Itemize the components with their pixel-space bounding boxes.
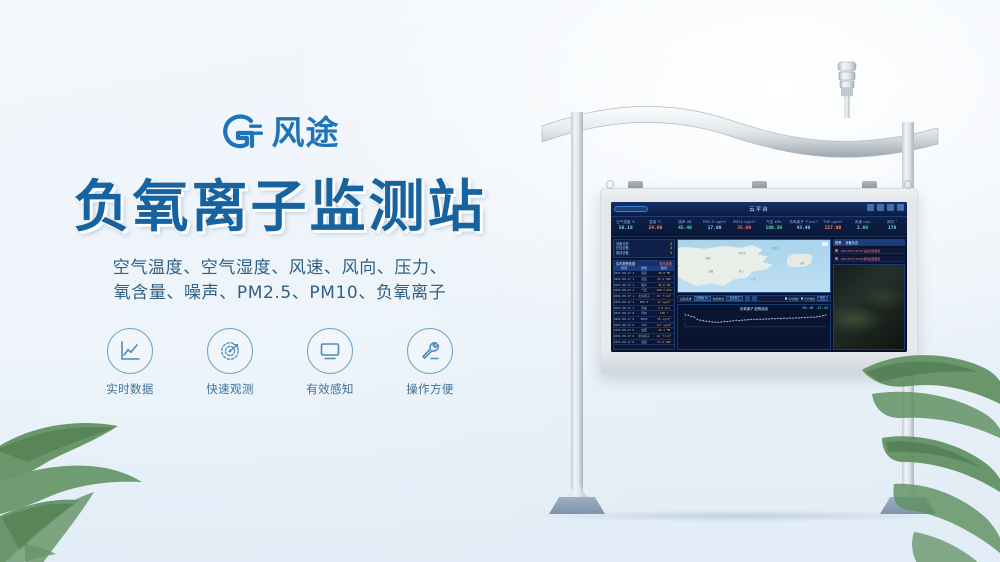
datatype-select[interactable]: 负氧离子: [726, 296, 743, 301]
table-cell: 45.6 dB: [654, 283, 674, 288]
svg-text:06:30: 06:30: [722, 326, 725, 329]
table-cell: 气压: [634, 288, 654, 293]
export-button[interactable]: 导出: [817, 296, 828, 301]
map-zoom-icon[interactable]: [822, 242, 828, 246]
alert-dot-icon: [835, 249, 838, 252]
table-cell: 35 ug/m³: [654, 317, 674, 322]
table-cell: 2021-08-17 10:15: [614, 288, 634, 293]
filter-label-device: 设备选择: [680, 297, 692, 301]
fullscreen-icon[interactable]: [897, 204, 904, 211]
table-cell: 风向: [634, 311, 654, 316]
alert-row[interactable]: 2021-08-17 09:12 设备离线报警: [833, 248, 905, 254]
base-cone-left: [566, 481, 588, 499]
kpi-card: 风速 m/s2.60: [848, 217, 878, 236]
table-cell: 2021-08-17 10:20: [614, 283, 634, 288]
support-pole-left: [571, 112, 583, 502]
table-cell: 100.3 kPa: [654, 288, 674, 293]
kpi-value: 24.60: [641, 225, 671, 233]
svg-text:18:00: 18:00: [791, 326, 794, 329]
left-panel: 设备总数3在线设备3离线设备0 实时报警数据 更多数据 时间类型数值 2021-…: [613, 239, 675, 350]
alert-panel-header: 报警 设备状态: [833, 239, 905, 246]
svg-text:02:00: 02:00: [695, 326, 698, 329]
kpi-card: 气压 kPa100.30: [759, 217, 789, 236]
svg-text:17:30: 17:30: [788, 326, 791, 329]
table-cell: 2021-08-17 09:35: [614, 334, 634, 339]
cabinet-mount-3: [862, 181, 877, 188]
wind-g-logo-icon: [221, 112, 263, 152]
map-label: 日本: [800, 261, 805, 265]
device-select[interactable]: 监测站 01: [694, 296, 711, 301]
kpi-row: 空气湿度 %56.18温度 ℃24.60噪声 dB45.40PM2.5 ug/m…: [611, 217, 907, 237]
feature-item-realtime-data[interactable]: 实时数据: [98, 328, 162, 397]
table-cell: 2021-08-17 10:25: [614, 277, 634, 282]
table-cell: 湿度: [634, 340, 654, 345]
svg-text:04:00: 04:00: [707, 326, 710, 329]
table-cell: 2021-08-17 09:30: [614, 340, 634, 345]
sensor-list-subtitle: 空气温度、空气湿度、风速、风向、压力、 氧含量、噪声、PM2.5、PM10、负氧…: [0, 256, 560, 306]
filter-label-datatype: 数据类型: [713, 297, 725, 301]
alarm-data-table[interactable]: 实时报警数据 更多数据 时间类型数值 2021-08-17 10:30温度26.…: [613, 260, 675, 350]
kpi-card: 空气湿度 %56.18: [611, 217, 641, 236]
alert-title: 报警: [835, 240, 841, 245]
dashboard-header: 云平台: [611, 202, 907, 217]
svg-text:15:30: 15:30: [776, 326, 779, 329]
svg-text:21:00: 21:00: [809, 326, 812, 329]
table-cell: 26.1 ℃: [654, 328, 674, 333]
table-cell: 噪声: [634, 283, 654, 288]
kpi-value: 17.00: [700, 225, 730, 233]
kpi-value: 43.40: [789, 225, 819, 233]
svg-text:03:30: 03:30: [704, 326, 707, 329]
svg-text:09:30: 09:30: [740, 326, 743, 329]
feature-list: 实时数据 快速观测 有效感知: [0, 328, 560, 397]
kpi-card: PM2.5 ug/m³17.00: [700, 217, 730, 236]
svg-text:05:30: 05:30: [716, 326, 719, 329]
filter-bar: 设备选择 监测站 01 数据类型 负氧离子 实时数据: [677, 295, 831, 302]
dashboard-toolbar[interactable]: [867, 204, 904, 211]
svg-text:09:00: 09:00: [737, 326, 740, 329]
svg-text:04:30: 04:30: [710, 326, 713, 329]
line-chart-icon: [107, 328, 153, 374]
feature-label: 快速观测: [198, 381, 262, 397]
kpi-value: 35.00: [729, 225, 759, 233]
user-icon[interactable]: [867, 204, 874, 211]
wave-canopy: [540, 98, 940, 164]
chart-readout-sub: 56.18: [802, 306, 813, 310]
table-cell: 湿度: [634, 277, 654, 282]
svg-text:11:30: 11:30: [752, 326, 755, 329]
trend-chart: 负氧离子 趋势曲线 56.18 43.40 01530456000:0000:3…: [677, 304, 831, 350]
page-title: 负氧离子监测站: [0, 162, 560, 243]
svg-text:18:30: 18:30: [794, 326, 797, 329]
feature-label: 有效感知: [298, 381, 362, 397]
kpi-card: 温度 ℃24.60: [641, 217, 671, 236]
kpi-value: 178: [877, 225, 907, 233]
feature-label: 操作方便: [398, 381, 462, 397]
legend-item-realtime: 实时数据: [785, 297, 799, 301]
kpi-value: 100.30: [759, 225, 789, 233]
table-cell: PM10: [634, 317, 654, 322]
kpi-card: PM10 ug/m³35.00: [729, 217, 759, 236]
map-label: 广东: [751, 277, 756, 281]
table-cell: 负氧离子: [634, 294, 654, 299]
chart-readout-main: 43.40: [817, 306, 828, 310]
feature-item-effective-sensing[interactable]: 有效感知: [298, 328, 362, 397]
svg-text:08:00: 08:00: [731, 326, 734, 329]
alert-status: 设备状态: [845, 240, 858, 245]
svg-text:30: 30: [683, 319, 685, 321]
ground-shadow: [530, 510, 950, 522]
table-row[interactable]: 2021-08-17 09:30湿度57.2 %RH: [614, 340, 674, 346]
table-cell: 2021-08-17 10:05: [614, 300, 634, 305]
table-cell: 温度: [634, 328, 654, 333]
cabinet-eyebolt-left: [606, 180, 614, 189]
dashboard-body: 设备总数3在线设备3离线设备0 实时报警数据 更多数据 时间类型数值 2021-…: [611, 237, 907, 352]
svg-text:05:00: 05:00: [713, 326, 716, 329]
svg-text:14:00: 14:00: [767, 326, 770, 329]
table-cell: 43 个/cm³: [654, 294, 674, 299]
center-panel: 新疆 内蒙古 黑龙江 西藏 四川 广东 日本 设备选择 监测站 01: [677, 239, 831, 350]
svg-text:22:30: 22:30: [818, 326, 821, 329]
svg-text:23:30: 23:30: [824, 326, 827, 329]
radar-scan-icon: [207, 328, 253, 374]
display-screen[interactable]: 云平台 空气湿度 %56.18温度 ℃24.60噪声 dB45.40PM2.5 …: [611, 202, 907, 352]
svg-text:10:30: 10:30: [746, 326, 749, 329]
svg-text:06:00: 06:00: [719, 326, 722, 329]
ultrasonic-weather-sensor-icon: [827, 60, 867, 120]
legend-item-history: 历史数据: [801, 297, 815, 301]
cabinet-mount-1: [628, 181, 643, 188]
settings-icon[interactable]: [877, 204, 884, 211]
monitoring-station-illustration: 云平台 空气湿度 %56.18温度 ℃24.60噪声 dB45.40PM2.5 …: [520, 60, 960, 530]
map-label: 内蒙古: [739, 251, 746, 255]
table-cell: 26.8 ℃: [654, 271, 674, 276]
feature-item-easy-operation[interactable]: 操作方便: [398, 328, 462, 397]
table-cell: 2021-08-17 10:10: [614, 294, 634, 299]
map-label: 黑龙江: [772, 246, 779, 250]
device-stat-row: 离线设备0: [616, 251, 672, 256]
kpi-value: 56.18: [611, 225, 641, 233]
table-cell: 温度: [634, 271, 654, 276]
svg-text:23:00: 23:00: [821, 326, 824, 329]
dashboard: 云平台 空气湿度 %56.18温度 ℃24.60噪声 dB45.40PM2.5 …: [611, 202, 907, 352]
svg-text:02:30: 02:30: [698, 326, 701, 329]
svg-text:20:00: 20:00: [803, 326, 806, 329]
feature-item-fast-observation[interactable]: 快速观测: [198, 328, 262, 397]
kpi-card: 噪声 dB45.40: [670, 217, 700, 236]
device-stat-summary: 设备总数3在线设备3离线设备0: [613, 239, 675, 258]
brand-logo: 风途: [0, 112, 560, 152]
svg-text:10:00: 10:00: [743, 326, 746, 329]
svg-text:01:00: 01:00: [689, 326, 692, 329]
svg-text:22:00: 22:00: [815, 326, 818, 329]
alert-row[interactable]: 2021-08-17 08:40 数值超限报警: [833, 256, 905, 262]
svg-text:12:00: 12:00: [755, 326, 758, 329]
table-cell: 17 ug/m³: [654, 300, 674, 305]
svg-text:01:30: 01:30: [692, 326, 695, 329]
table-cell: 风速: [634, 306, 654, 311]
kpi-card: 负氧离子 个/cm³43.40: [789, 217, 819, 236]
map-label: 西藏: [708, 269, 713, 273]
table-cell: PM2.5: [634, 300, 654, 305]
svg-text:45: 45: [683, 316, 685, 318]
table-body: 2021-08-17 10:30温度26.8 ℃2021-08-17 10:25…: [614, 271, 674, 345]
table-cell: 41 个/cm³: [654, 334, 674, 339]
svg-text:14:30: 14:30: [770, 326, 773, 329]
map-label: 四川: [739, 269, 744, 273]
svg-text:19:00: 19:00: [797, 326, 800, 329]
table-cell: 负氧离子: [634, 334, 654, 339]
table-cell: 55.4 %RH: [654, 277, 674, 282]
alert-dot-icon: [835, 257, 838, 260]
svg-text:16:00: 16:00: [779, 326, 782, 329]
brand-name: 风途: [272, 116, 340, 149]
china-map[interactable]: 新疆 内蒙古 黑龙江 西藏 四川 广东 日本: [677, 239, 831, 293]
svg-text:21:30: 21:30: [812, 326, 815, 329]
table-cell: 2021-08-17 09:55: [614, 311, 634, 316]
monitor-icon: [307, 328, 353, 374]
svg-text:13:00: 13:00: [761, 326, 764, 329]
display-cabinet: 云平台 空气湿度 %56.18温度 ℃24.60噪声 dB45.40PM2.5 …: [600, 188, 918, 374]
kpi-card: 风向 °178: [877, 217, 907, 236]
table-cell: 117 ug/m³: [654, 323, 674, 328]
table-cell: 178 °: [654, 311, 674, 316]
svg-text:13:30: 13:30: [764, 326, 767, 329]
right-panel: 报警 设备状态 2021-08-17 09:12 设备离线报警 2021-08-…: [833, 239, 905, 350]
subtitle-line-2: 氧含量、噪声、PM2.5、PM10、负氧离子: [0, 281, 560, 306]
refresh-icon[interactable]: [752, 296, 757, 301]
subtitle-line-1: 空气温度、空气湿度、风速、风向、压力、: [0, 256, 560, 281]
svg-text:00:30: 00:30: [686, 326, 689, 329]
svg-text:19:30: 19:30: [800, 326, 803, 329]
table-cell: 2021-08-17 10:00: [614, 306, 634, 311]
feature-label: 实时数据: [98, 381, 162, 397]
chart-plot-area: 01530456000:0000:3001:0001:3002:0002:300…: [680, 312, 828, 330]
video-surveillance-feed[interactable]: [833, 264, 905, 350]
svg-text:08:30: 08:30: [734, 326, 737, 329]
table-cell: 2021-08-17 09:40: [614, 328, 634, 333]
svg-text:15: 15: [683, 322, 685, 324]
dashboard-title: 云平台: [611, 205, 907, 213]
svg-text:07:00: 07:00: [725, 326, 728, 329]
cabinet-eyebolt-right: [904, 180, 912, 189]
svg-text:12:30: 12:30: [758, 326, 761, 329]
svg-text:17:00: 17:00: [785, 326, 788, 329]
base-cone-right: [897, 481, 919, 499]
search-icon[interactable]: [745, 296, 750, 301]
table-cell: 2021-08-17 10:30: [614, 271, 634, 276]
kpi-value: 2.60: [848, 225, 878, 233]
svg-text:20:30: 20:30: [806, 326, 809, 329]
table-cell: 57.2 %RH: [654, 340, 674, 345]
kpi-value: 117.00: [818, 225, 848, 233]
svg-text:03:00: 03:00: [701, 326, 704, 329]
promo-copy-block: 风途 负氧离子监测站 空气温度、空气湿度、风速、风向、压力、 氧含量、噪声、PM…: [0, 0, 560, 562]
kpi-card: TSP ug/m³117.00: [818, 217, 848, 236]
wrench-icon: [407, 328, 453, 374]
svg-text:60: 60: [683, 313, 685, 315]
kpi-value: 45.40: [670, 225, 700, 233]
svg-text:15:00: 15:00: [773, 326, 776, 329]
chart-readout: 56.18 43.40: [802, 306, 828, 310]
table-cell: 2021-08-17 09:50: [614, 317, 634, 322]
svg-text:16:30: 16:30: [782, 326, 785, 329]
alarm-icon[interactable]: [887, 204, 894, 211]
svg-text:11:00: 11:00: [749, 326, 752, 329]
svg-text:07:30: 07:30: [728, 326, 731, 329]
table-cell: 2021-08-17 09:45: [614, 323, 634, 328]
table-cell: 2.6 m/s: [654, 306, 674, 311]
cabinet-mount-2: [752, 181, 767, 188]
table-cell: TSP: [634, 323, 654, 328]
map-label: 新疆: [705, 256, 710, 260]
